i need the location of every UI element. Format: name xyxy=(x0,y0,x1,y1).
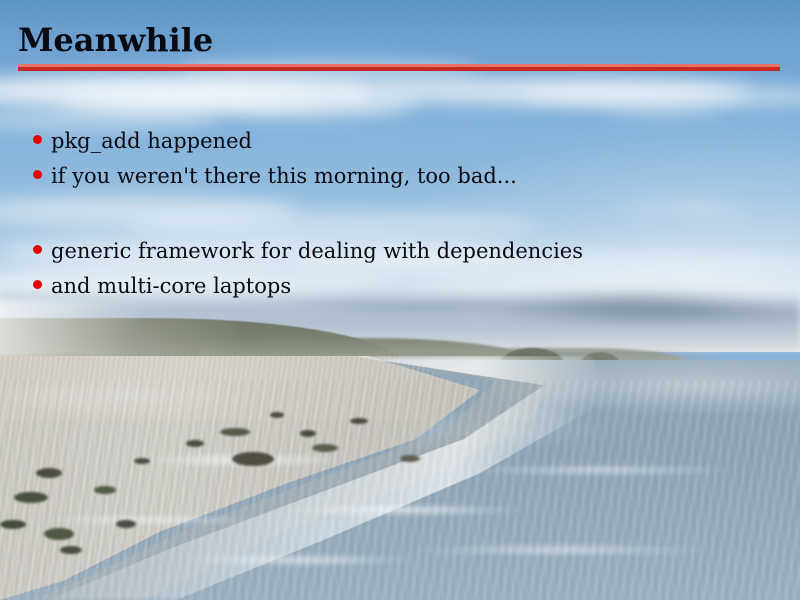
bullet-label: and multi-core laptops xyxy=(51,273,291,299)
bullet-label: if you weren't there this morning, too b… xyxy=(51,163,517,189)
bullet-dot-icon xyxy=(33,170,42,179)
bullet-label: generic framework for dealing with depen… xyxy=(51,238,583,264)
presentation-slide: Meanwhile pkg_add happened if you weren'… xyxy=(0,0,800,600)
title-divider-rule xyxy=(18,64,780,71)
slide-content: Meanwhile pkg_add happened if you weren'… xyxy=(0,0,800,600)
bullet-item: pkg_add happened xyxy=(33,128,773,163)
bullet-item: and multi-core laptops xyxy=(33,273,773,308)
bullet-label: pkg_add happened xyxy=(51,128,252,154)
bullet-list: pkg_add happened if you weren't there th… xyxy=(33,128,773,308)
bullet-dot-icon xyxy=(33,245,42,254)
bullet-item: if you weren't there this morning, too b… xyxy=(33,163,773,198)
bullet-dot-icon xyxy=(33,135,42,144)
bullet-group-spacer xyxy=(33,198,773,238)
slide-title: Meanwhile xyxy=(18,22,213,58)
bullet-item: generic framework for dealing with depen… xyxy=(33,238,773,273)
bullet-dot-icon xyxy=(33,280,42,289)
